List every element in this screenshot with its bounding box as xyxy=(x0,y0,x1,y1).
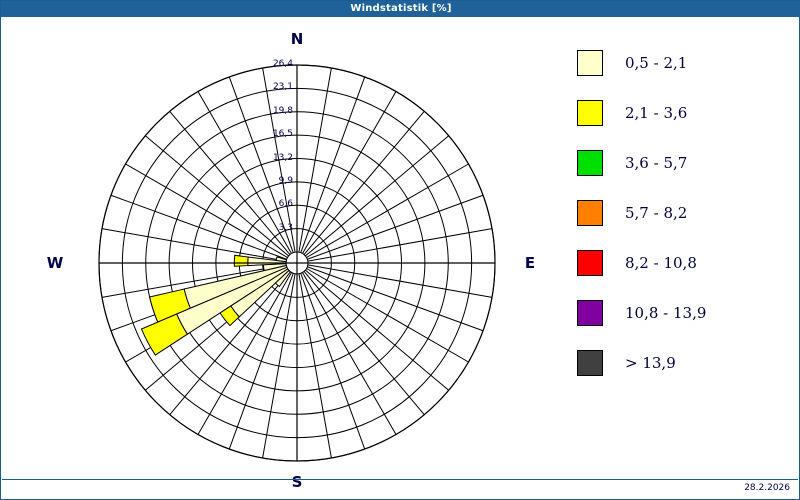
radial-tick-label: 19,8 xyxy=(265,106,293,116)
legend: 0,5 - 2,12,1 - 3,63,6 - 5,75,7 - 8,28,2 … xyxy=(577,38,792,388)
legend-item[interactable]: 5,7 - 8,2 xyxy=(577,188,792,238)
grid-spoke xyxy=(111,195,287,259)
legend-label: 5,7 - 8,2 xyxy=(625,204,687,222)
windrose-petal-segment xyxy=(234,255,248,266)
legend-item[interactable]: 10,8 - 13,9 xyxy=(577,288,792,338)
grid-spoke xyxy=(301,77,365,253)
radial-tick-label: 23,1 xyxy=(265,82,293,92)
footer: 28.2.2026 xyxy=(2,479,798,500)
legend-swatch xyxy=(577,150,603,176)
grid-spoke xyxy=(299,68,331,252)
radial-tick-label: 6,6 xyxy=(265,199,293,209)
compass-label-west: W xyxy=(40,254,70,272)
radial-tick-label: 9,9 xyxy=(265,176,293,186)
legend-swatch xyxy=(577,350,603,376)
radial-tick-label: 3,3 xyxy=(265,223,293,233)
grid-spoke xyxy=(263,274,295,458)
legend-label: 8,2 - 10,8 xyxy=(625,254,697,272)
grid-spoke xyxy=(126,164,288,258)
grid-spoke xyxy=(308,229,492,261)
legend-label: 0,5 - 2,1 xyxy=(625,54,687,72)
legend-item[interactable]: 0,5 - 2,1 xyxy=(577,38,792,88)
polar-axis-lines xyxy=(99,65,495,461)
legend-item[interactable]: 3,6 - 5,7 xyxy=(577,138,792,188)
grid-spoke xyxy=(303,273,397,435)
legend-label: > 13,9 xyxy=(625,354,676,372)
legend-swatch xyxy=(577,300,603,326)
grid-spoke xyxy=(301,273,365,449)
legend-swatch xyxy=(577,50,603,76)
windrose-window: Windstatistik [%] N S W E 3,36,69,913,21… xyxy=(0,0,800,500)
grid-spoke xyxy=(304,111,424,254)
radial-tick-label: 16,5 xyxy=(265,129,293,139)
grid-spoke xyxy=(305,136,448,256)
legend-item[interactable]: 8,2 - 10,8 xyxy=(577,238,792,288)
compass-label-east: E xyxy=(515,254,545,272)
grid-spoke xyxy=(303,92,397,254)
date-label: 28.2.2026 xyxy=(744,483,790,493)
grid-spoke xyxy=(102,229,286,261)
plot-area: N S W E 3,36,69,913,216,519,823,126,4 0,… xyxy=(2,18,798,478)
legend-label: 2,1 - 3,6 xyxy=(625,104,687,122)
radial-tick-label: 26,4 xyxy=(265,59,293,69)
legend-item[interactable]: > 13,9 xyxy=(577,338,792,388)
legend-label: 3,6 - 5,7 xyxy=(625,154,687,172)
grid-spoke xyxy=(307,164,469,258)
windrose-chart: N S W E 3,36,69,913,216,519,823,126,4 xyxy=(2,18,562,478)
grid-spoke xyxy=(307,269,469,363)
legend-label: 10,8 - 13,9 xyxy=(625,304,706,322)
grid-spoke xyxy=(307,195,483,259)
legend-swatch xyxy=(577,250,603,276)
grid-spoke xyxy=(305,270,448,390)
legend-swatch xyxy=(577,100,603,126)
grid-spoke xyxy=(307,267,483,331)
radial-tick-label: 13,2 xyxy=(265,153,293,163)
window-title-bar: Windstatistik [%] xyxy=(1,1,800,17)
grid-spoke xyxy=(308,265,492,297)
legend-swatch xyxy=(577,200,603,226)
compass-label-north: N xyxy=(282,30,312,48)
window-title: Windstatistik [%] xyxy=(350,3,451,14)
grid-spoke xyxy=(299,274,331,458)
legend-item[interactable]: 2,1 - 3,6 xyxy=(577,88,792,138)
grid-spoke xyxy=(304,271,424,414)
